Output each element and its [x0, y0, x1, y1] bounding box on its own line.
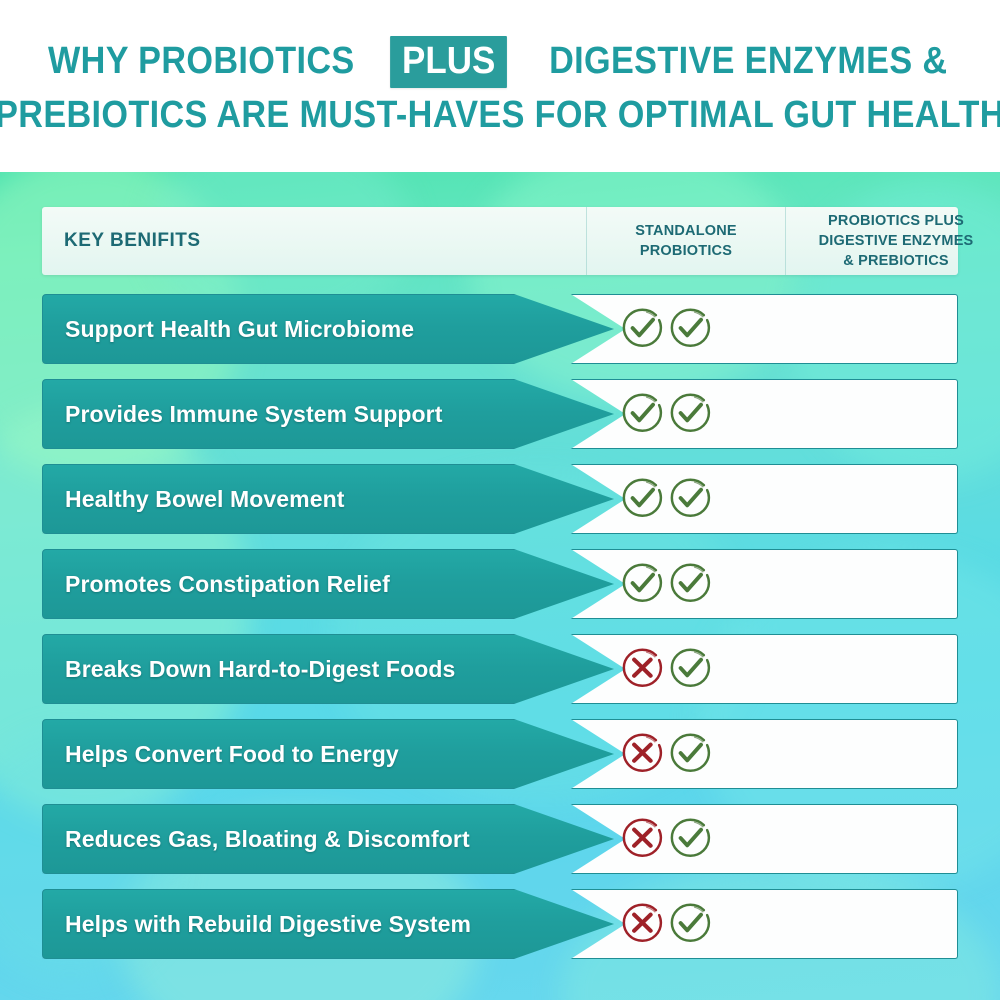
title-line-2: PREBIOTICS ARE MUST-HAVES FOR OPTIMAL GU… [0, 94, 1000, 137]
cell-probiotics-plus [666, 379, 714, 449]
header-col2-line2: DIGESTIVE ENZYMES [819, 231, 974, 251]
row-label: Reduces Gas, Bloating & Discomfort [43, 826, 470, 853]
table-row: Provides Immune System Support [42, 379, 958, 449]
check-icon [618, 305, 666, 353]
title-text-before: WHY PROBIOTICS [48, 40, 355, 83]
row-label: Breaks Down Hard-to-Digest Foods [43, 656, 455, 683]
cell-standalone-probiotics [618, 719, 666, 789]
header-col1-line1: STANDALONE [635, 221, 737, 241]
page-title: WHY PROBIOTICS PLUS DIGESTIVE ENZYMES & … [0, 0, 1000, 172]
table-row: Support Health Gut Microbiome [42, 294, 958, 364]
cell-standalone-probiotics [618, 889, 666, 959]
cell-probiotics-plus [666, 634, 714, 704]
cell-standalone-probiotics [618, 379, 666, 449]
row-label: Healthy Bowel Movement [43, 486, 345, 513]
check-icon [666, 815, 714, 863]
cell-standalone-probiotics [618, 464, 666, 534]
cell-standalone-probiotics [618, 634, 666, 704]
cross-icon [618, 645, 666, 693]
row-label-band: Promotes Constipation Relief [42, 549, 614, 619]
cell-probiotics-plus [666, 804, 714, 874]
row-label-band: Helps with Rebuild Digestive System [42, 889, 614, 959]
comparison-table: KEY BENIFITS STANDALONE PROBIOTICS PROBI… [0, 172, 1000, 1000]
table-row: Helps with Rebuild Digestive System [42, 889, 958, 959]
check-icon [666, 730, 714, 778]
infographic-page: WHY PROBIOTICS PLUS DIGESTIVE ENZYMES & … [0, 0, 1000, 1000]
header-col2-line3: & PREBIOTICS [819, 251, 974, 271]
cell-probiotics-plus [666, 294, 714, 364]
check-icon [618, 475, 666, 523]
title-text-line2: PREBIOTICS ARE MUST-HAVES FOR OPTIMAL GU… [0, 94, 1000, 137]
check-icon [666, 900, 714, 948]
row-label-band: Support Health Gut Microbiome [42, 294, 614, 364]
header-key-benefits: KEY BENIFITS [42, 207, 586, 275]
table-row: Healthy Bowel Movement [42, 464, 958, 534]
check-icon [666, 305, 714, 353]
cell-probiotics-plus [666, 464, 714, 534]
row-label-band: Helps Convert Food to Energy [42, 719, 614, 789]
row-label: Support Health Gut Microbiome [43, 316, 414, 343]
title-text-after: DIGESTIVE ENZYMES & [549, 40, 947, 83]
check-icon [618, 560, 666, 608]
row-label: Provides Immune System Support [43, 401, 442, 428]
check-icon [666, 390, 714, 438]
row-label-band: Breaks Down Hard-to-Digest Foods [42, 634, 614, 704]
cross-icon [618, 730, 666, 778]
table-row: Promotes Constipation Relief [42, 549, 958, 619]
cell-probiotics-plus [666, 719, 714, 789]
row-label: Promotes Constipation Relief [43, 571, 390, 598]
cell-standalone-probiotics [618, 294, 666, 364]
cell-standalone-probiotics [618, 804, 666, 874]
cell-standalone-probiotics [618, 549, 666, 619]
title-plus-badge: PLUS [390, 36, 507, 88]
row-label-band: Healthy Bowel Movement [42, 464, 614, 534]
cell-probiotics-plus [666, 549, 714, 619]
header-col2-line1: PROBIOTICS PLUS [819, 211, 974, 231]
cell-probiotics-plus [666, 889, 714, 959]
row-label: Helps with Rebuild Digestive System [43, 911, 471, 938]
table-header-row: KEY BENIFITS STANDALONE PROBIOTICS PROBI… [42, 207, 958, 275]
cross-icon [618, 815, 666, 863]
table-row: Reduces Gas, Bloating & Discomfort [42, 804, 958, 874]
check-icon [666, 475, 714, 523]
row-label-band: Reduces Gas, Bloating & Discomfort [42, 804, 614, 874]
header-col-standalone-probiotics: STANDALONE PROBIOTICS [586, 207, 785, 275]
title-line-1: WHY PROBIOTICS PLUS DIGESTIVE ENZYMES & [0, 36, 1000, 88]
table-row: Breaks Down Hard-to-Digest Foods [42, 634, 958, 704]
check-icon [666, 645, 714, 693]
header-col-probiotics-plus: PROBIOTICS PLUS DIGESTIVE ENZYMES & PREB… [785, 207, 1000, 275]
row-label-band: Provides Immune System Support [42, 379, 614, 449]
row-label: Helps Convert Food to Energy [43, 741, 399, 768]
table-row: Helps Convert Food to Energy [42, 719, 958, 789]
check-icon [618, 390, 666, 438]
header-col1-line2: PROBIOTICS [635, 241, 737, 261]
check-icon [666, 560, 714, 608]
cross-icon [618, 900, 666, 948]
